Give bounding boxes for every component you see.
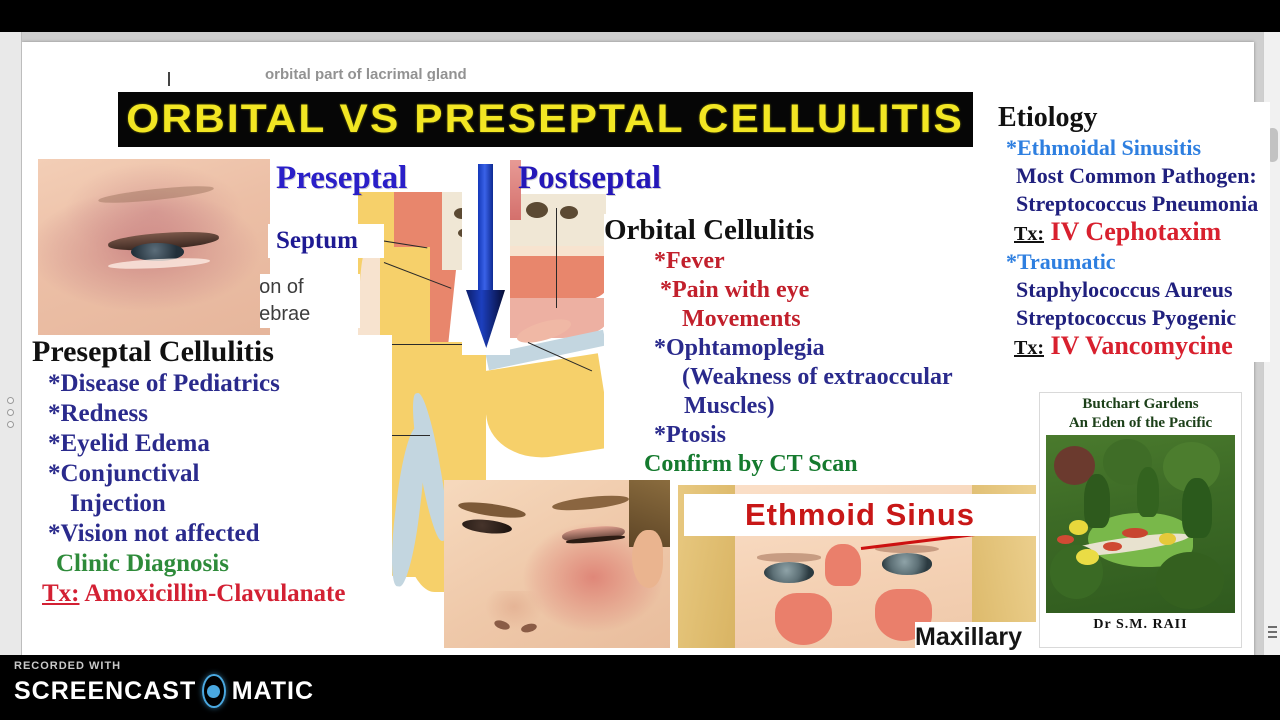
down-arrow-icon [462,160,510,355]
video-frame: orbital part of lacrimal gland ORBITAL V… [0,0,1280,720]
tendon-label-box: don of pebrae [260,274,360,328]
etiology-treatment-1: Tx: IV Cephotaxim [998,218,1270,248]
list-item: Injection [32,489,392,519]
garden-photo [1046,435,1235,613]
garden-caption-line1: Butchart Gardens [1040,393,1241,415]
text-cursor-caret [168,72,170,86]
orbital-cellulitis-column: Orbital Cellulitis *Fever *Pain with eye… [604,214,1004,479]
tx-prefix: Tx: [1014,337,1044,359]
tx-prefix: Tx: [1014,223,1044,245]
list-item: *Disease of Pediatrics [32,369,392,399]
list-item: (Weakness of extraoccular [604,363,1004,392]
preseptal-treatment: Tx: Amoxicillin-Clavulanate [32,579,392,609]
septum-label: Septum [276,227,358,255]
preseptal-diagnosis-note: Clinic Diagnosis [32,549,392,579]
watermark-word-right: MATIC [232,677,314,706]
list-item: *Conjunctival [32,459,392,489]
screencast-o-matic-watermark: RECORDED WITH SCREENCAST MATIC [14,660,314,716]
list-item: Muscles) [604,392,1004,421]
ethmoid-sinus-label-box: Ethmoid Sinus [684,494,1036,536]
tx-drug: IV Vancomycine [1044,331,1233,360]
etiology-heading: Etiology [998,102,1270,134]
garden-signature: Dr S.M. RAII [1040,613,1241,633]
garden-caption-line2: An Eden of the Pacific [1040,415,1241,434]
watermark-small-text: RECORDED WITH [14,660,314,672]
etiology-list: *Ethmoidal Sinusitis Most Common Pathoge… [998,134,1270,362]
list-item: *Ophtamoplegia [604,334,1004,363]
preseptal-heading: Preseptal Cellulitis [32,335,392,369]
orbital-cellulitis-child-photo [444,480,670,648]
orbital-list: *Fever *Pain with eye Movements *Ophtamo… [604,247,1004,479]
watermark-word-left: SCREENCAST [14,677,196,706]
list-item: *Redness [32,399,392,429]
page-title: ORBITAL VS PRESEPTAL CELLULITIS [127,97,965,142]
letterbox-top-bar [0,0,1280,32]
list-item: Streptococcus Pneumonia [998,190,1270,218]
list-item: Movements [604,305,1004,334]
screencast-o-matic-dot-icon [202,674,225,708]
tendon-label-line1: don of [260,274,360,301]
preseptal-eye-photo [38,159,270,335]
cut-off-text-line: orbital part of lacrimal gland [265,68,585,81]
tx-drug: IV Cephotaxim [1044,217,1221,246]
title-banner: ORBITAL VS PRESEPTAL CELLULITIS [118,92,973,147]
list-item: Most Common Pathogen: [998,162,1270,190]
tx-prefix: Tx: [42,580,80,607]
tendon-label-line2: pebrae [260,301,360,328]
etiology-treatment-2: Tx: IV Vancomycine [998,332,1270,362]
list-item: *Traumatic [998,248,1270,276]
list-item: *Fever [604,247,1004,276]
left-editor-rail[interactable] [0,32,22,655]
list-item: *Ethmoidal Sinusitis [998,134,1270,162]
orbital-heading: Orbital Cellulitis [604,214,1004,247]
list-item: *Vision not affected [32,519,392,549]
butchart-gardens-card: Butchart Gardens An Eden of the Pacific … [1039,392,1242,648]
list-item: *Eyelid Edema [32,429,392,459]
rail-handle-dots [7,397,16,433]
diagram-header-postseptal: Postseptal [518,160,661,197]
tx-drug: Amoxicillin-Clavulanate [80,580,346,607]
scrollbar-marker-icon [1268,626,1277,641]
list-item: *Pain with eye [604,276,1004,305]
list-item: *Ptosis [604,421,1004,450]
ethmoid-sinus-label: Ethmoid Sinus [745,497,975,533]
maxillary-label: Maxillary [915,623,1022,651]
diagram-header-preseptal: Preseptal [276,160,407,197]
list-item: Streptococcus Pyogenic [998,304,1270,332]
list-item: Staphylococcus Aureus [998,276,1270,304]
preseptal-cellulitis-column: Preseptal Cellulitis *Disease of Pediatr… [32,335,392,609]
etiology-column: Etiology *Ethmoidal Sinusitis Most Commo… [998,102,1270,362]
septum-label-box: Septum [268,224,384,258]
preseptal-list: *Disease of Pediatrics *Redness *Eyelid … [32,369,392,609]
orbital-confirm-note: Confirm by CT Scan [604,450,1004,479]
